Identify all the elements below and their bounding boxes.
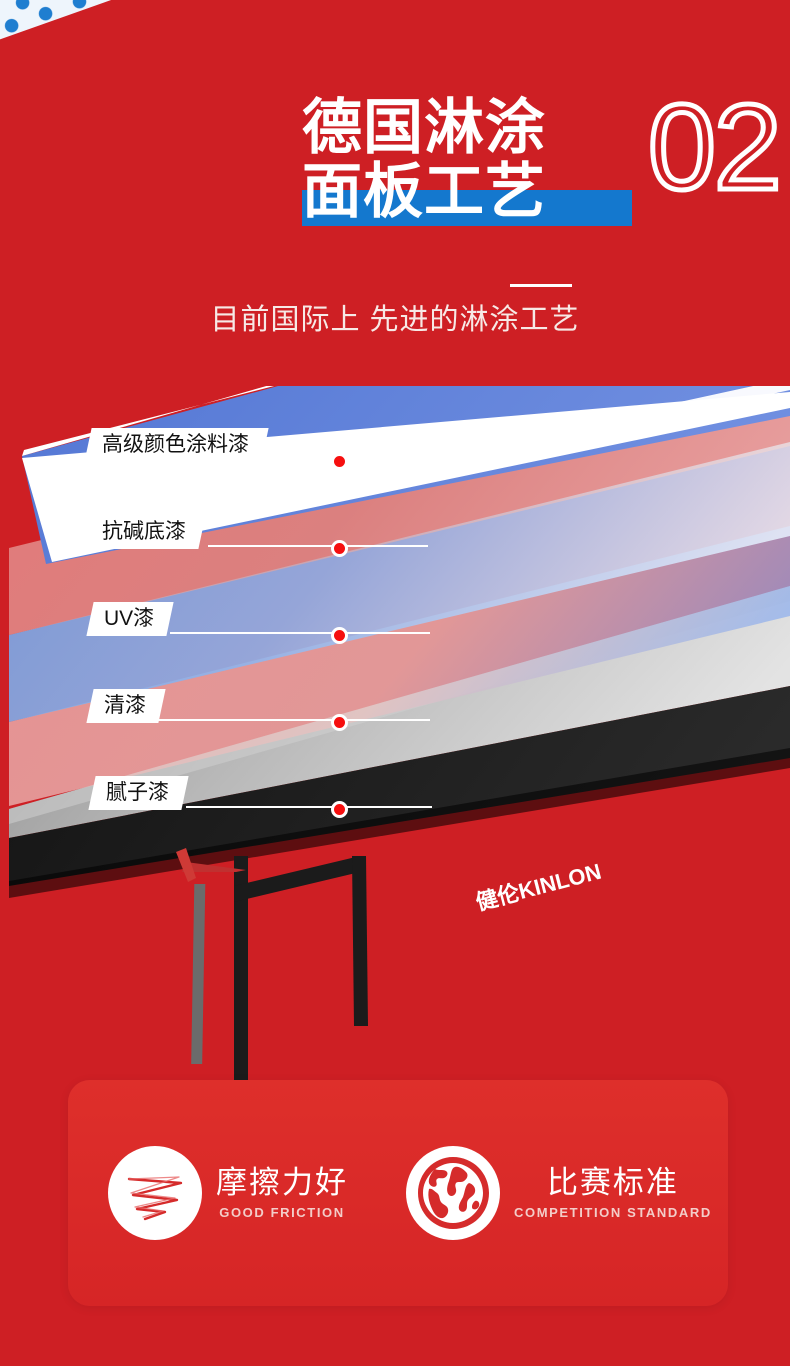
dot-pattern-icon bbox=[0, 0, 99, 61]
callout-4-label: 清漆 bbox=[104, 689, 146, 723]
callout-2-tag: 抗碱底漆 bbox=[84, 515, 205, 549]
banner-ribbon: KINLON KIN LON KINLON bbox=[0, 0, 525, 67]
callout-dot-3 bbox=[331, 627, 348, 644]
callout-2-label: 抗碱底漆 bbox=[102, 515, 186, 549]
feature-card: 摩擦力好 GOOD FRICTION bbox=[68, 1080, 728, 1306]
friction-zigzag-icon bbox=[108, 1146, 202, 1240]
table-layers-illustration bbox=[0, 386, 790, 1116]
callout-dot-5 bbox=[331, 801, 348, 818]
callout-4: 清漆 bbox=[90, 689, 340, 723]
callout-dot-2 bbox=[331, 540, 348, 557]
callout-2: 抗碱底漆 bbox=[88, 515, 340, 549]
feature-2-title: 比赛标准 bbox=[547, 1163, 679, 1203]
callout-5-label: 腻子漆 bbox=[106, 776, 169, 810]
callout-dot-1 bbox=[331, 453, 348, 470]
feature-2-text: 比赛标准 COMPETITION STANDARD bbox=[514, 1163, 712, 1223]
section-numeral: 02 bbox=[648, 86, 780, 208]
callout-4-leader bbox=[156, 719, 430, 721]
headline-block: 德国淋涂 面板工艺 02 bbox=[302, 96, 752, 224]
table-legs bbox=[176, 848, 368, 1086]
callout-3-leader bbox=[170, 632, 430, 634]
product-detail-page: KINLON KIN LON KINLON 德国淋涂 面板工艺 02 目前国际上… bbox=[0, 0, 790, 1366]
globe-icon bbox=[406, 1146, 500, 1240]
headline-subtitle: 目前国际上 先进的淋涂工艺 bbox=[0, 300, 790, 340]
callout-4-tag: 清漆 bbox=[86, 689, 165, 723]
callout-3-tag: UV漆 bbox=[86, 602, 173, 636]
callout-1: 高级颜色涂料漆 bbox=[88, 428, 340, 462]
callout-2-leader bbox=[208, 545, 428, 547]
callout-5-tag: 腻子漆 bbox=[88, 776, 188, 810]
feature-1-subtitle: GOOD FRICTION bbox=[219, 1203, 345, 1223]
callout-dot-4 bbox=[331, 714, 348, 731]
callout-1-label: 高级颜色涂料漆 bbox=[102, 428, 249, 462]
feature-1-text: 摩擦力好 GOOD FRICTION bbox=[216, 1163, 348, 1223]
feature-1-title: 摩擦力好 bbox=[216, 1163, 348, 1203]
feature-good-friction: 摩擦力好 GOOD FRICTION bbox=[98, 1146, 348, 1240]
callout-5-leader bbox=[186, 806, 432, 808]
feature-competition-standard: 比赛标准 COMPETITION STANDARD bbox=[396, 1146, 712, 1240]
feature-2-subtitle: COMPETITION STANDARD bbox=[514, 1203, 712, 1223]
callout-1-tag: 高级颜色涂料漆 bbox=[84, 428, 268, 462]
callout-3: UV漆 bbox=[90, 602, 340, 636]
callout-1-leader bbox=[288, 458, 428, 460]
headline-divider bbox=[510, 284, 572, 287]
callout-3-label: UV漆 bbox=[104, 602, 154, 636]
callout-5: 腻子漆 bbox=[92, 776, 340, 810]
